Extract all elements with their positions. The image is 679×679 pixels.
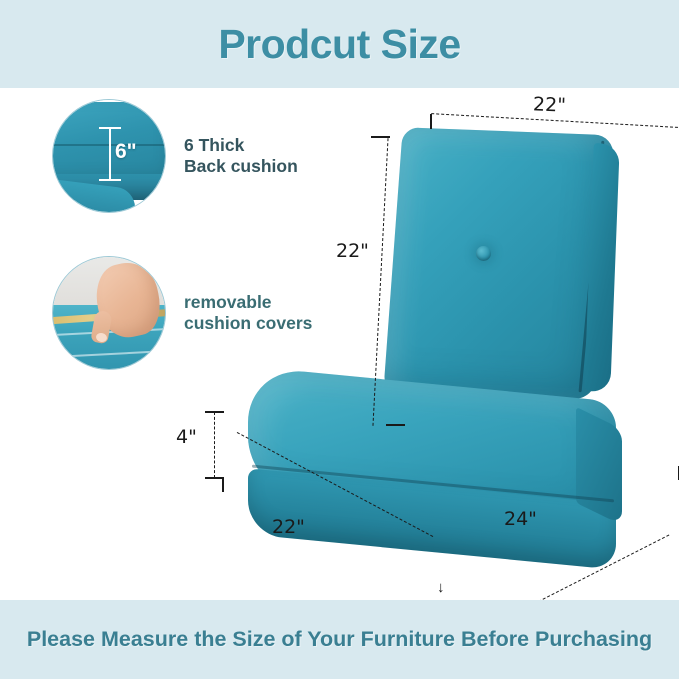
dim-label-seat-depth: 22"	[272, 516, 305, 538]
page-title: Prodcut Size	[218, 21, 460, 68]
dim-line-seat-thickness	[214, 412, 215, 478]
dim-tick	[430, 114, 432, 129]
removable-cover-zipper-photo-icon	[52, 256, 166, 370]
dim-label-seat-width: 24"	[504, 508, 537, 530]
dim-tick	[205, 411, 224, 413]
dim-label-back-height: 22"	[336, 240, 369, 262]
inset-dimension-marker	[109, 128, 111, 180]
dim-label-back-width: 22"	[533, 93, 567, 116]
footer-text: Please Measure the Size of Your Furnitur…	[20, 626, 660, 654]
dim-tick	[386, 424, 405, 426]
back-cushion	[383, 127, 614, 400]
product-illustration: 22" 6" 22" 4" 22" 24" ↓	[208, 88, 679, 600]
footer-band: Please Measure the Size of Your Furnitur…	[0, 600, 679, 679]
back-cushion-thickness-photo-icon: 6"	[52, 99, 166, 213]
dim-tick	[371, 136, 390, 138]
dim-label-seat-thickness: 4"	[176, 426, 197, 448]
dim-tick	[222, 478, 224, 492]
main-stage: 6" 6 Thick Back cushion removable cushio…	[0, 88, 679, 600]
inset-dimension-label: 6"	[115, 140, 137, 164]
tufted-button	[476, 246, 491, 261]
dim-arrow-icon: ↓	[437, 580, 445, 595]
header-band: Prodcut Size	[0, 0, 679, 88]
